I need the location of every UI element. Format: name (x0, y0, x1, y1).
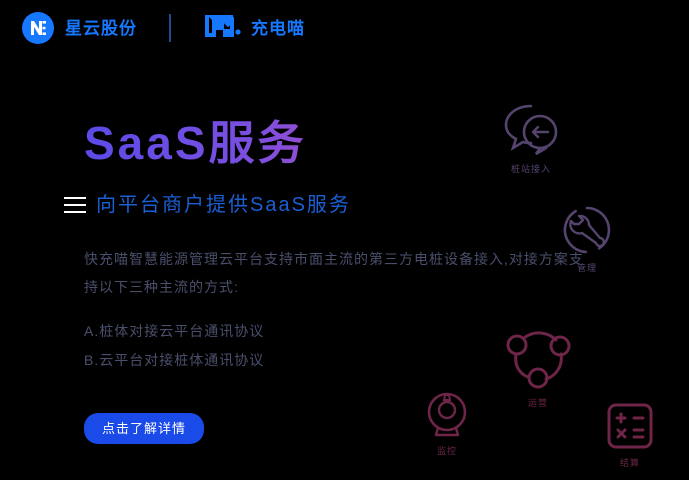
feature-chat: 桩站接入 (500, 100, 562, 174)
hero-paragraph: 快充喵智慧能源管理云平台支持市面主流的第三方电桩设备接入,对接方案支持以下三种主… (84, 245, 584, 301)
feature-caption: 结算 (620, 459, 640, 468)
feature-monitor: 监控 (424, 390, 470, 456)
learn-more-button[interactable]: 点击了解详情 (84, 413, 204, 445)
promo-page: 星云股份 充电喵 SaaS服务 向平台商户提供SaaS服务 快充喵智慧能源管理云… (0, 0, 689, 480)
feature-ops: 运营 (502, 324, 574, 408)
brand-secondary-name: 充电喵 (251, 20, 305, 37)
hero-subtitle: 向平台商户提供SaaS服务 (96, 195, 351, 215)
calculator-icon (606, 402, 654, 455)
brand-secondary[interactable]: 充电喵 (205, 13, 305, 44)
feature-manage: 管理 (562, 205, 612, 273)
hero-subtitle-row: 向平台商户提供SaaS服务 (64, 195, 604, 215)
wrench-tool-icon (562, 205, 612, 260)
charging-cat-logo-icon (205, 13, 243, 44)
feature-caption: 运营 (528, 399, 548, 408)
ne-circle-logo-icon (22, 12, 54, 44)
brand-primary-name: 星云股份 (65, 20, 137, 37)
header-divider (169, 14, 171, 42)
camera-monitor-icon (424, 390, 470, 443)
page-header: 星云股份 充电喵 (0, 0, 689, 56)
feature-billing: 结算 (606, 402, 654, 468)
hamburger-menu-icon (64, 197, 86, 213)
feature-caption: 管理 (577, 264, 597, 273)
network-nodes-icon (502, 324, 574, 395)
brand-primary[interactable]: 星云股份 (22, 12, 137, 44)
chat-bubbles-icon (500, 100, 562, 161)
feature-caption: 监控 (437, 447, 457, 456)
feature-caption: 桩站接入 (511, 165, 551, 174)
